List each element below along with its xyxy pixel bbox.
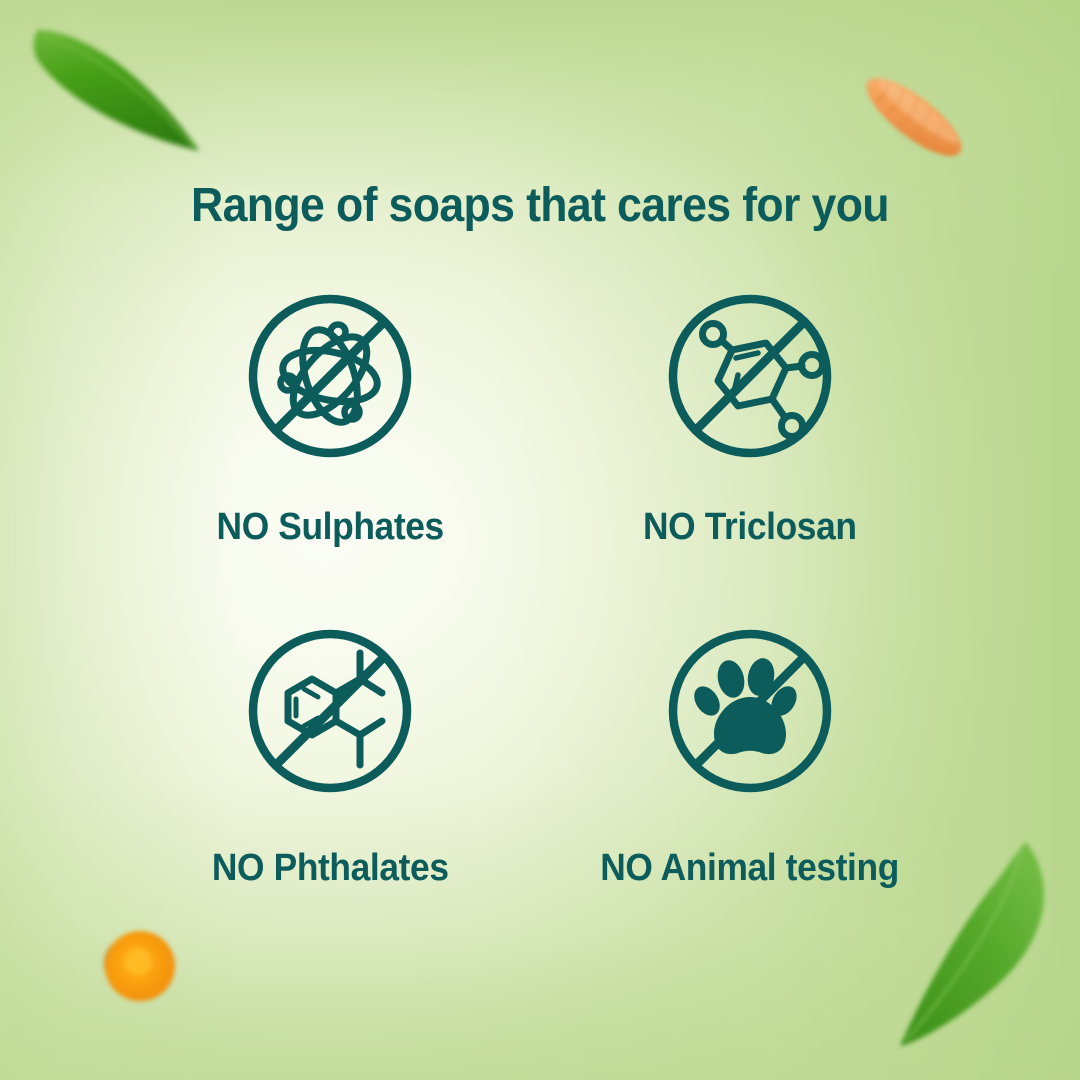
no-molecule-icon — [662, 288, 838, 464]
claim-label: NO Animal testing — [601, 847, 900, 890]
claim-no-triclosan: NO Triclosan — [540, 288, 960, 623]
promo-poster: Range of soaps that cares for you — [0, 0, 1080, 1080]
no-paw-icon — [662, 623, 838, 799]
claims-grid: NO Sulphates — [120, 288, 960, 958]
claim-no-animal-testing: NO Animal testing — [540, 623, 960, 958]
claim-no-phthalates: NO Phthalates — [120, 623, 540, 958]
page-title: Range of soaps that cares for you — [38, 178, 1042, 233]
no-atom-icon — [242, 288, 418, 464]
claim-label: NO Triclosan — [643, 506, 857, 549]
claim-label: NO Sulphates — [216, 506, 443, 549]
claim-no-sulphates: NO Sulphates — [120, 288, 540, 623]
no-chemical-structure-icon — [242, 623, 418, 799]
claim-label: NO Phthalates — [212, 847, 449, 890]
